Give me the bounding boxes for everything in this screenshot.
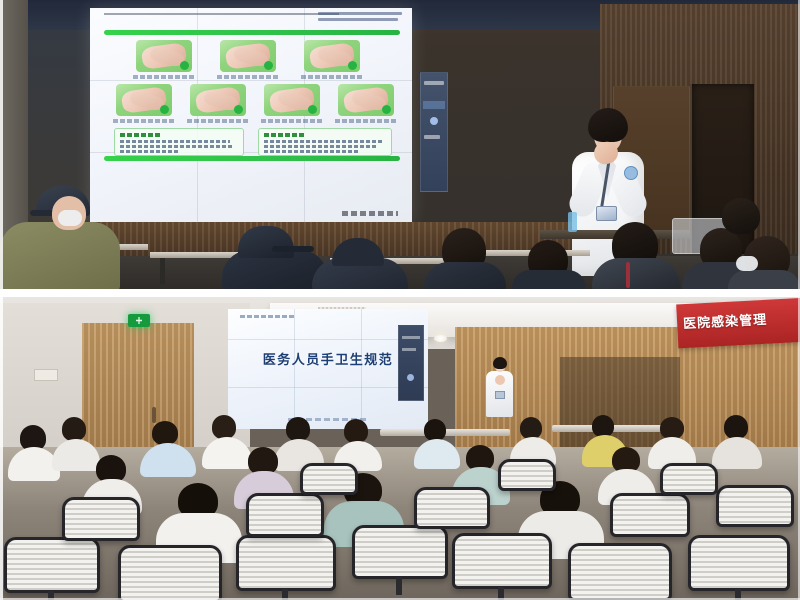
audience-head — [424, 419, 446, 441]
image-left-margin — [0, 0, 3, 600]
audience-member-body — [512, 270, 586, 291]
audience-head — [520, 417, 542, 439]
handwash-step-caption — [217, 75, 279, 79]
slide-institution-logo — [318, 12, 404, 28]
auditorium-chair[interactable] — [118, 545, 222, 600]
audience-member-body — [728, 270, 800, 291]
audience-member-body — [592, 258, 680, 291]
handwash-step-caption — [301, 75, 363, 79]
handwash-step-tile — [264, 84, 320, 116]
slide-green-bar-bottom — [104, 156, 400, 161]
face-mask — [58, 210, 82, 226]
auditorium-chair[interactable] — [452, 533, 552, 589]
handwash-step-tile — [190, 84, 246, 116]
wall-info-display — [398, 325, 424, 401]
desk-leg — [160, 258, 165, 284]
audience-member-body — [424, 262, 506, 291]
handwash-step-caption — [187, 119, 249, 123]
handwash-step-caption — [113, 119, 175, 123]
slide-header-rule — [104, 13, 339, 15]
audience-head — [152, 421, 178, 445]
auditorium-chair[interactable] — [688, 535, 790, 591]
audience-head — [660, 417, 684, 439]
top-photo-lecturer-demonstration — [0, 0, 800, 291]
sanitiser-bottle — [568, 212, 577, 232]
auditorium-chair[interactable] — [660, 463, 718, 495]
audience-head — [592, 415, 614, 437]
presenter-at-front — [482, 357, 516, 419]
presenter-hair — [493, 357, 507, 369]
auditorium-chair[interactable] — [498, 459, 556, 491]
audience-cap — [238, 226, 294, 258]
auditorium-chair[interactable] — [352, 525, 448, 579]
handwash-step-tile — [338, 84, 394, 116]
handwash-step-tile — [116, 84, 172, 116]
ceiling-downlight — [434, 335, 447, 342]
handwash-step-tile — [220, 40, 276, 72]
banner-text: 医院感染管理 — [683, 309, 768, 332]
emergency-exit-sign — [128, 314, 150, 327]
handwash-step-tile — [304, 40, 360, 72]
projection-screen — [90, 8, 412, 223]
auditorium-chair[interactable] — [716, 485, 794, 527]
photo-collage: 医院感染管理 医务人员手卫生规范 — [0, 0, 800, 600]
audience-head — [722, 198, 760, 234]
left-pillar — [0, 0, 28, 250]
slide-institution-logo — [240, 315, 294, 318]
cap-brim — [272, 246, 314, 252]
slide-textbox-indications — [114, 128, 244, 156]
audience-head — [286, 417, 310, 441]
auditorium-chair[interactable] — [300, 463, 358, 495]
slide-footer-signature — [342, 211, 398, 216]
audience-head — [62, 417, 86, 441]
audience-member-body — [0, 222, 120, 291]
wall-info-display — [420, 72, 448, 192]
auditorium-chair[interactable] — [62, 497, 140, 541]
handwash-step-caption — [133, 75, 195, 79]
staff-id-badge — [495, 391, 505, 399]
red-wall-banner: 医院感染管理 — [676, 298, 800, 348]
staff-id-badge — [596, 206, 617, 221]
audience-head — [212, 415, 236, 439]
presenter-hands — [495, 375, 505, 385]
lanyard — [626, 262, 630, 288]
auditorium-chair[interactable] — [414, 487, 490, 529]
auditorium-chair[interactable] — [236, 535, 336, 591]
audience-head — [724, 415, 748, 439]
audience-member-body — [414, 439, 460, 469]
slide-textbox-principles — [258, 128, 392, 156]
auditorium-chair[interactable] — [246, 493, 324, 537]
auditorium-chair[interactable] — [4, 537, 100, 593]
auditorium-chair[interactable] — [610, 493, 690, 537]
handwash-step-caption — [335, 119, 397, 123]
handwash-step-caption — [261, 119, 323, 123]
coat-emblem — [624, 166, 638, 180]
bottom-photo-auditorium-wide: 医院感染管理 医务人员手卫生规范 — [0, 297, 800, 600]
wall-switch-plate — [34, 369, 58, 381]
slide-green-bar-top — [104, 30, 400, 35]
auditorium-chair[interactable] — [568, 543, 672, 600]
face-mask — [736, 256, 758, 271]
handwash-step-tile — [136, 40, 192, 72]
audience-head — [344, 419, 368, 443]
door-handle — [152, 407, 156, 423]
presenter-hair — [588, 108, 628, 142]
